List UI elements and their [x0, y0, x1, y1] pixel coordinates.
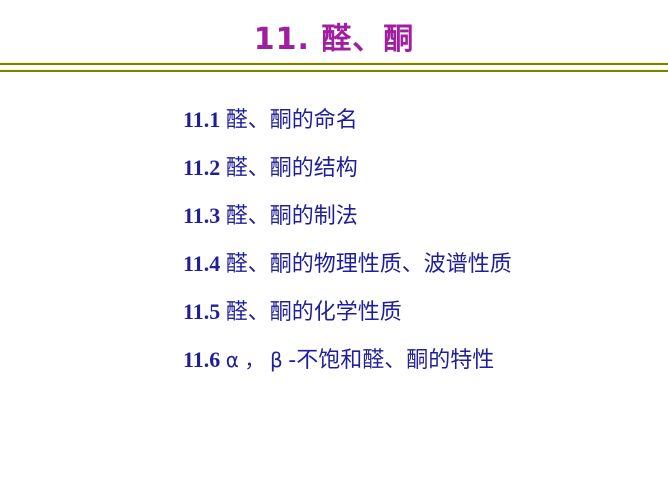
- title-divider: [0, 62, 668, 74]
- list-item: 11.2 醛、酮的结构: [183, 144, 653, 192]
- outline-list: 11.1 醛、酮的命名 11.2 醛、酮的结构 11.3 醛、酮的制法 11.4…: [183, 96, 653, 384]
- list-item-number: 11.6: [183, 347, 220, 372]
- list-item-label: 醛、酮的物理性质、波谱性质: [226, 252, 512, 277]
- slide-canvas: 11. 醛、酮 11.1 醛、酮的命名 11.2 醛、酮的结构 11.3 醛、酮…: [0, 0, 668, 500]
- slide-title-block: 11. 醛、酮: [0, 23, 668, 58]
- list-item: 11.5 醛、酮的化学性质: [183, 288, 653, 336]
- list-item-label: -不饱和醛、酮的特性: [288, 348, 494, 373]
- list-item-number: 11.2: [183, 155, 220, 180]
- list-item-number: 11.1: [183, 107, 220, 132]
- list-item-label: 醛、酮的化学性质: [226, 300, 402, 325]
- list-item-comma: ，: [244, 348, 264, 372]
- list-item: 11.4 醛、酮的物理性质、波谱性质: [183, 240, 653, 288]
- page-title: 11. 醛、酮: [254, 23, 415, 58]
- list-item-label: 醛、酮的制法: [226, 204, 358, 229]
- list-item-number: 11.5: [183, 299, 220, 324]
- greek-beta-symbol: β: [270, 348, 283, 372]
- list-item: 11.1 醛、酮的命名: [183, 96, 653, 144]
- list-item: 11.6 α ， β -不饱和醛、酮的特性: [183, 336, 653, 384]
- divider-line-upper: [0, 62, 668, 65]
- list-item: 11.3 醛、酮的制法: [183, 192, 653, 240]
- divider-line-lower: [0, 69, 668, 72]
- greek-alpha-symbol: α: [226, 348, 239, 372]
- list-item-number: 11.3: [183, 203, 220, 228]
- list-item-label: 醛、酮的命名: [226, 108, 358, 133]
- list-item-number: 11.4: [183, 251, 220, 276]
- list-item-label: 醛、酮的结构: [226, 156, 358, 181]
